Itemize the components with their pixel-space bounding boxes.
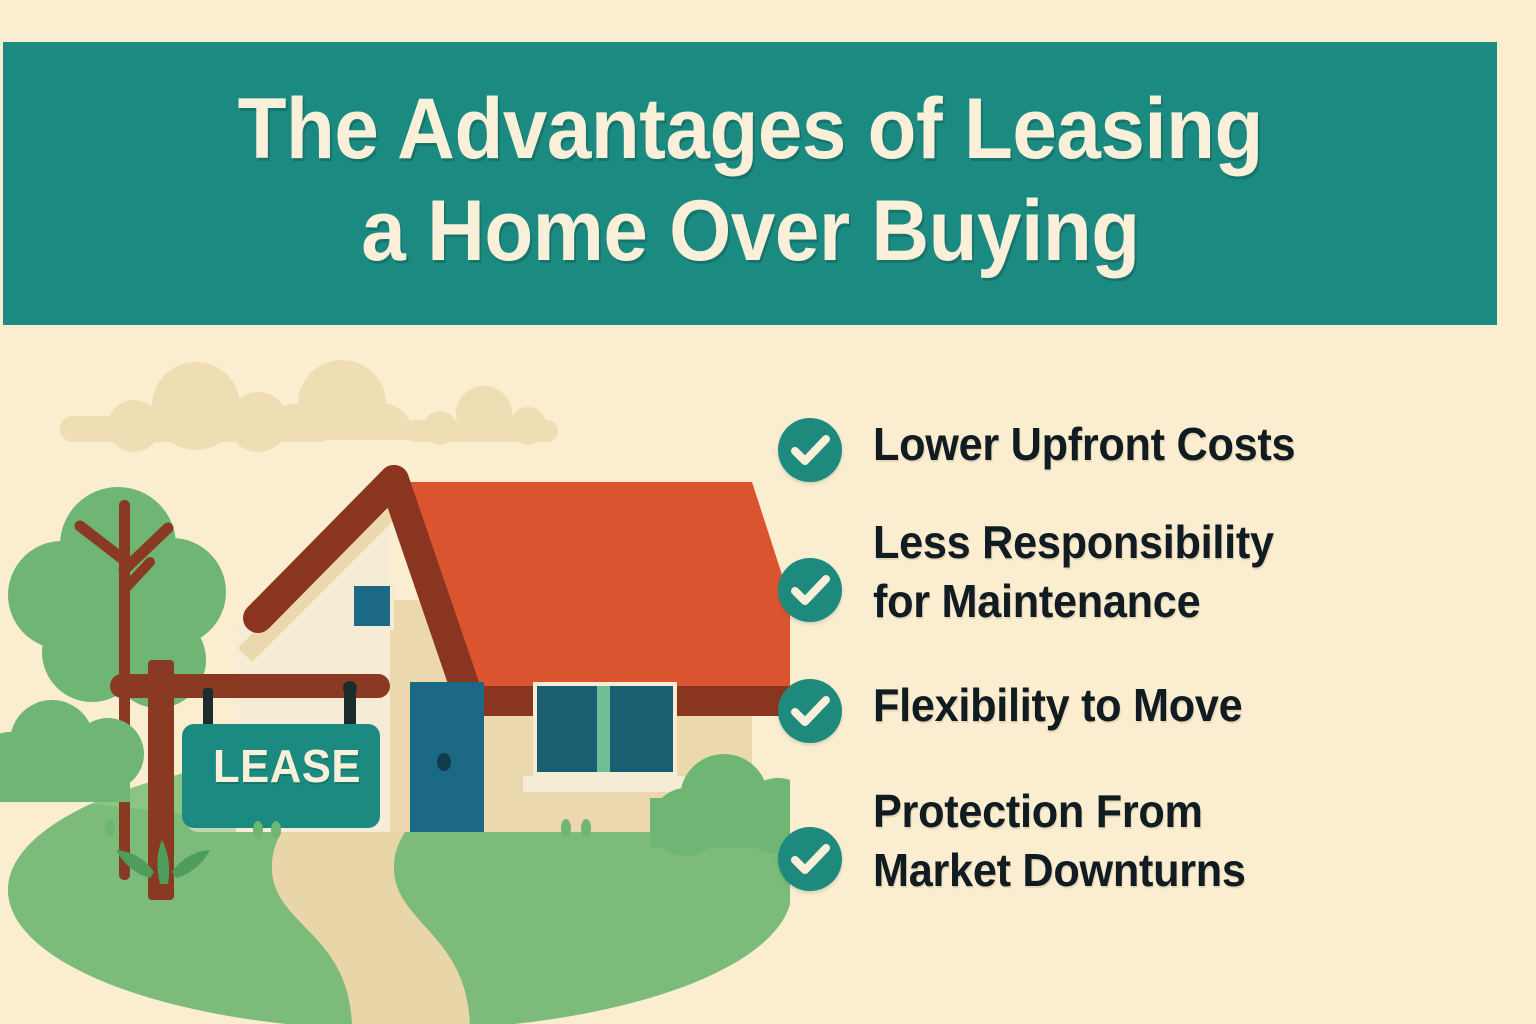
house-illustration [0, 330, 790, 1024]
title-line-2: a Home Over Buying [361, 188, 1139, 276]
benefit-label: Lower Upfront Costs [873, 415, 1295, 474]
check-icon [778, 827, 842, 891]
title-banner: The Advantages of Leasing a Home Over Bu… [3, 42, 1497, 325]
title-line-1: The Advantages of Leasing [237, 86, 1262, 174]
benefit-item: Less Responsibility for Maintenance [778, 516, 1299, 631]
side-window [523, 682, 687, 792]
check-icon [778, 679, 842, 743]
infographic-root: The Advantages of Leasing a Home Over Bu… [0, 0, 1536, 1024]
benefit-label: Less Responsibility for Maintenance [873, 513, 1274, 631]
benefit-item: Protection From Market Downturns [778, 785, 1269, 900]
cloud-right-icon [404, 386, 558, 445]
benefit-item: Flexibility to Move [778, 679, 1266, 743]
check-icon [778, 418, 842, 482]
benefit-item: Lower Upfront Costs [778, 418, 1322, 482]
attic-window [350, 582, 394, 630]
cloud-left-icon [60, 360, 436, 452]
benefit-label: Protection From Market Downturns [873, 782, 1246, 900]
front-door [410, 682, 484, 832]
benefits-list: Lower Upfront Costs Less Responsibility … [778, 398, 1478, 918]
benefit-label: Flexibility to Move [873, 676, 1242, 735]
check-icon [778, 558, 842, 622]
